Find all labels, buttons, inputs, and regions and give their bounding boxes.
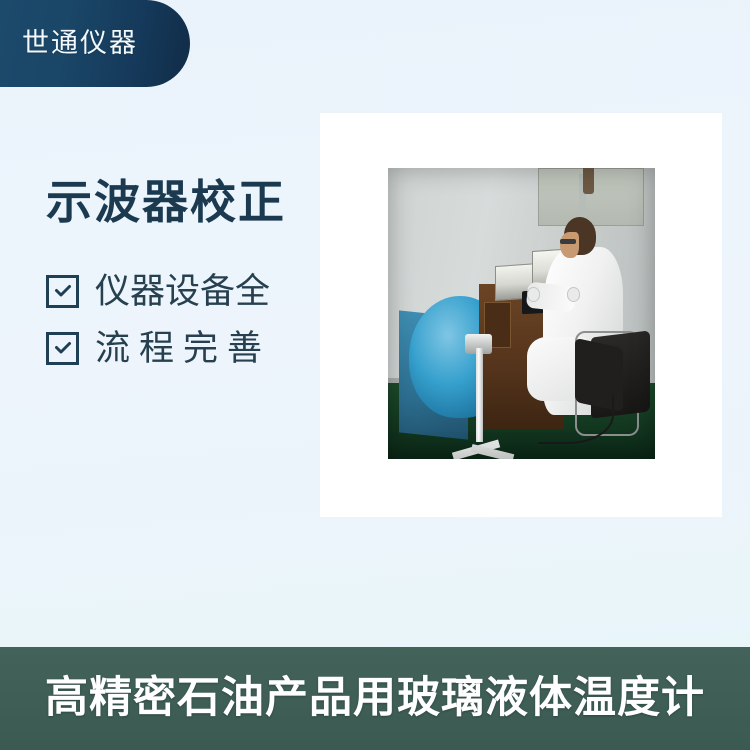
promo-poster: 世通仪器 示波器校正 仪器设备全 流程完善 <box>0 0 750 750</box>
photo-stand-pole <box>476 348 483 441</box>
photo-technician-face <box>560 232 579 258</box>
feature-label: 流程完善 <box>95 331 271 366</box>
product-name: 高精密石油产品用玻璃液体温度计 <box>45 677 705 720</box>
brand-name: 世通仪器 <box>22 30 138 57</box>
checkbox-checked-icon <box>46 275 79 308</box>
copy-block: 示波器校正 仪器设备全 流程完善 <box>46 178 326 366</box>
feature-list: 仪器设备全 流程完善 <box>46 274 326 366</box>
photo-technician-glove <box>527 287 540 302</box>
brand-badge: 世通仪器 <box>0 0 190 87</box>
checkbox-checked-icon <box>46 332 79 365</box>
photo-wall-fixture <box>583 168 594 194</box>
list-item: 仪器设备全 <box>46 274 326 309</box>
photo-technician-glasses <box>560 239 576 244</box>
photo-card <box>320 113 722 517</box>
feature-label: 仪器设备全 <box>95 274 270 309</box>
photo-technician-glove <box>567 287 580 302</box>
list-item: 流程完善 <box>46 331 326 366</box>
photo-scene <box>388 168 655 459</box>
calibration-lab-photo <box>388 168 655 459</box>
page-title: 示波器校正 <box>46 178 326 228</box>
bottom-banner: 高精密石油产品用玻璃液体温度计 <box>0 647 750 750</box>
